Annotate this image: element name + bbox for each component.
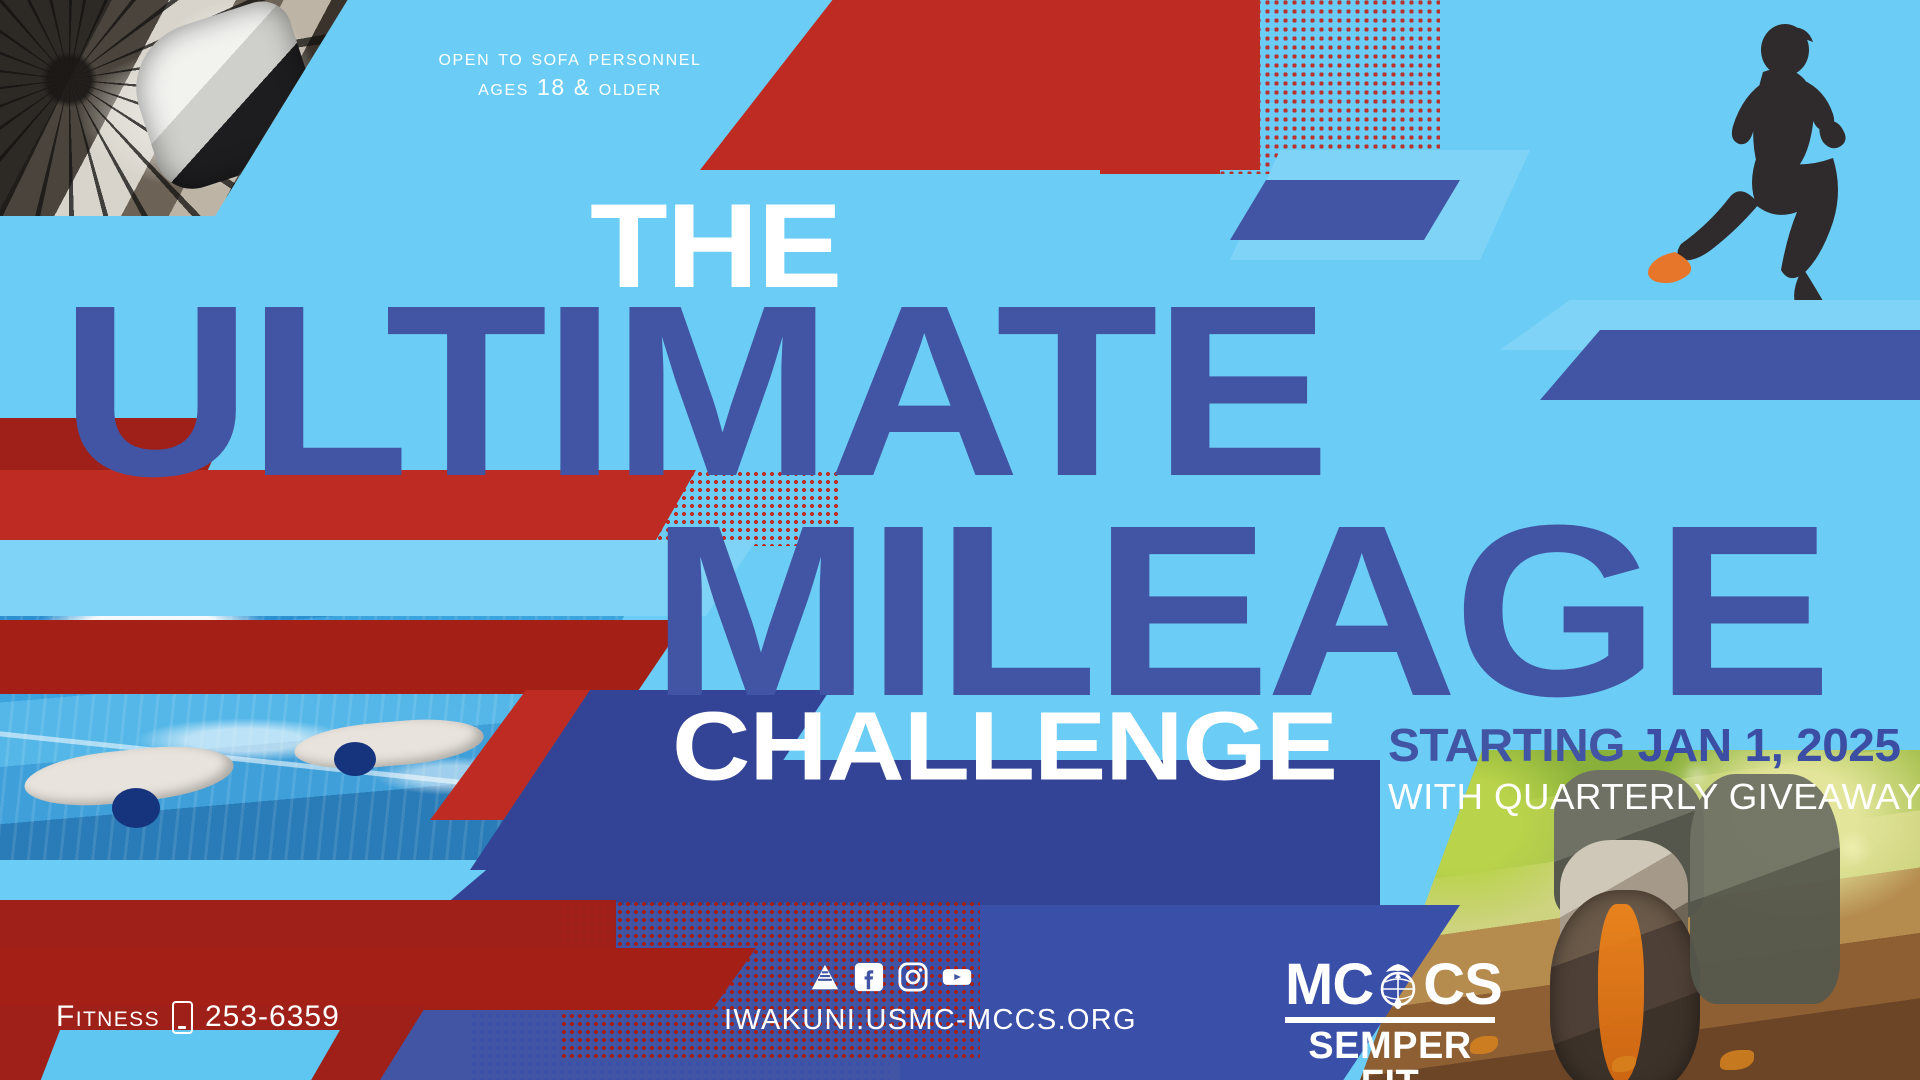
start-date-prefix: STARTING (1388, 719, 1638, 771)
fitness-contact: Fitness 253-6359 (56, 1000, 340, 1034)
mccs-wordmark-left: MC (1285, 958, 1373, 1011)
mccs-wordmark-right: CS (1423, 958, 1502, 1011)
youtube-icon[interactable] (942, 962, 972, 992)
instagram-icon[interactable] (898, 962, 928, 992)
eagle-globe-anchor-icon (1371, 958, 1425, 1012)
eligibility-line-1: Open to SOFA personnel (390, 42, 750, 72)
poster-canvas: Open to SOFA personnel Ages 18 & older T… (0, 0, 1920, 1080)
swim-cap (334, 742, 376, 776)
facebook-icon[interactable] (854, 962, 884, 992)
runner-silhouette (1635, 22, 1865, 332)
cyclist-photo (0, 0, 350, 216)
fitness-phone-number[interactable]: 253-6359 (205, 1000, 340, 1034)
red-footer-bar-upper (0, 900, 616, 952)
cyan-bar-left (0, 540, 756, 616)
social-links[interactable] (810, 962, 972, 992)
mccs-divider (1285, 1017, 1495, 1023)
blue-strip-right (1540, 330, 1920, 400)
mccs-logo: MC CS SEMPER FIT (1285, 958, 1495, 1080)
fitness-label: Fitness (56, 1000, 160, 1034)
swim-cap (112, 788, 160, 828)
eligibility-note: Open to SOFA personnel Ages 18 & older (390, 42, 750, 102)
mccs-wordmark: MC CS (1285, 958, 1495, 1012)
mccs-tagline: SEMPER FIT (1285, 1027, 1495, 1080)
navy-tab-top-right (1230, 180, 1460, 240)
eligibility-line-2: Ages 18 & older (390, 72, 750, 102)
red-bar-left-lower (0, 620, 686, 694)
start-date-block: STARTING JAN 1, 2025 WITH QUARTERLY GIVE… (1388, 718, 1888, 818)
website-url[interactable]: IWAKUNI.USMC-MCCS.ORG (724, 1004, 1137, 1037)
phone-icon (172, 1001, 193, 1034)
red-dissolve-top (1110, 0, 1440, 174)
title-challenge: CHALLENGE (672, 698, 1337, 796)
cyan-wedge-bottom-left (40, 1030, 340, 1080)
giveaways-note: WITH QUARTERLY GIVEAWAYS (1388, 776, 1898, 818)
app-triangle-icon[interactable] (810, 962, 840, 992)
start-date-line: STARTING JAN 1, 2025 (1388, 718, 1908, 772)
start-date-value: JAN 1, 2025 (1638, 719, 1901, 771)
